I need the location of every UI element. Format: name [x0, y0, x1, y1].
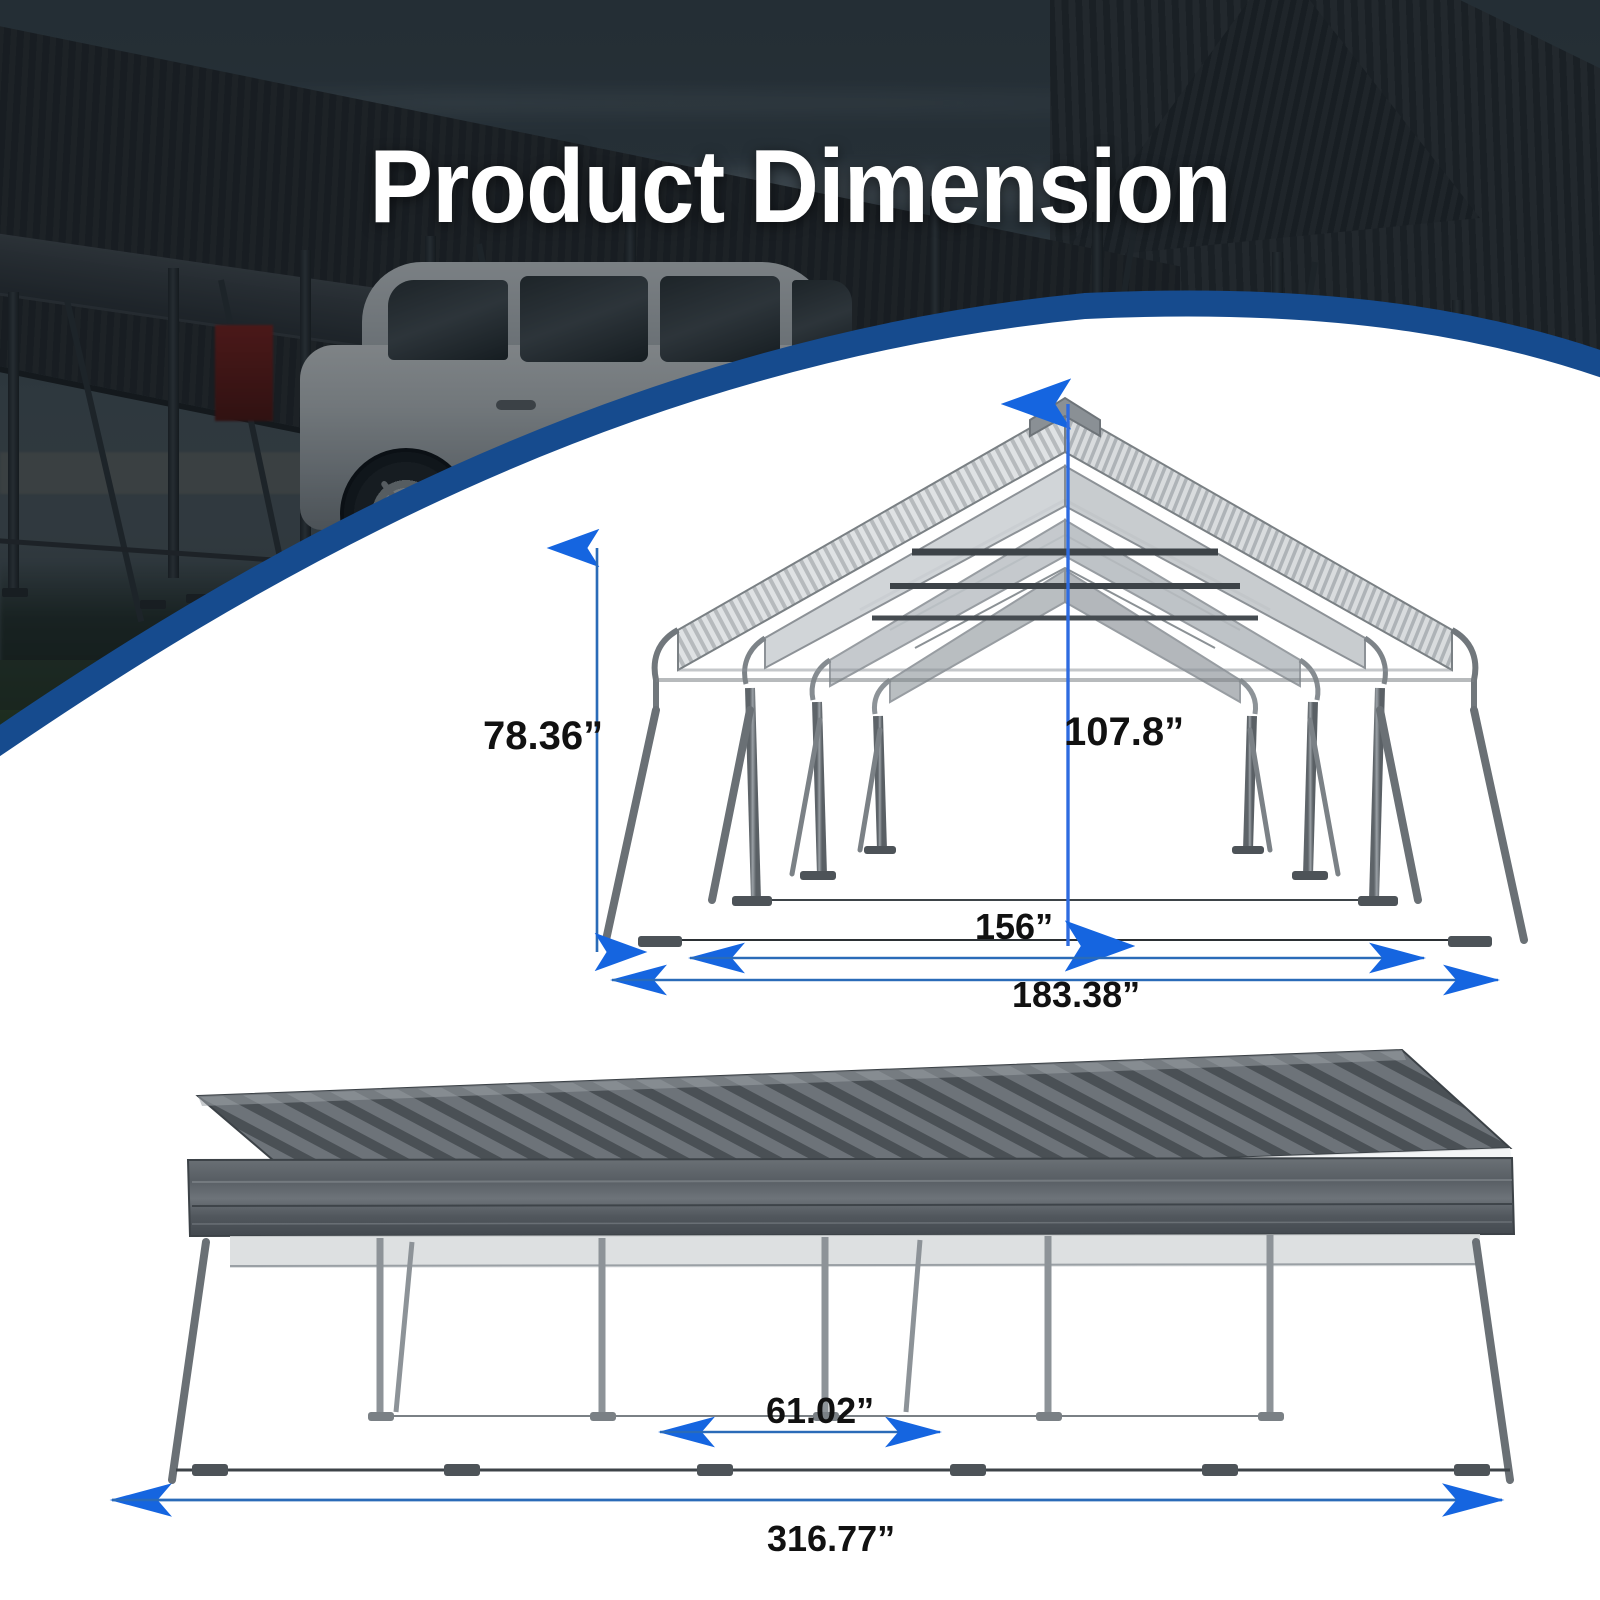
dimension-label-107-8: 107.8”: [1064, 710, 1184, 755]
dimension-label-61-02: 61.02”: [766, 1390, 874, 1432]
dimension-label-183-38: 183.38”: [1012, 974, 1140, 1016]
page-title: Product Dimension: [64, 128, 1536, 247]
product-dimension-infographic: Product Dimension: [0, 0, 1600, 1600]
dimension-label-316-77: 316.77”: [767, 1518, 895, 1560]
dimension-label-78-36: 78.36”: [483, 714, 603, 759]
dimension-label-156: 156”: [975, 906, 1053, 948]
side-elevation-render: [80, 1020, 1540, 1520]
